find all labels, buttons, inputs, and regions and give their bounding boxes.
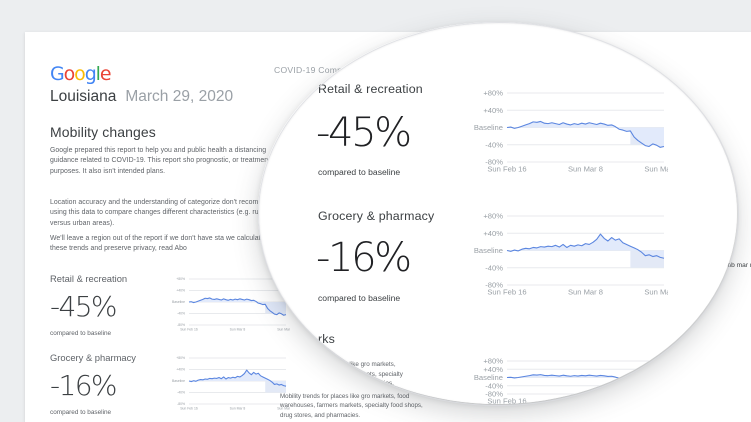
svg-text:Sun Feb 16: Sun Feb 16: [487, 397, 526, 404]
svg-text:-40%: -40%: [485, 140, 503, 149]
metric-category-label: Grocery & pharmacy: [50, 352, 170, 363]
svg-text:Sun Mar 29: Sun Mar 29: [644, 165, 668, 174]
svg-text:+80%: +80%: [483, 89, 503, 98]
google-logo: Google: [50, 63, 110, 85]
svg-text:Sun Mar 8: Sun Mar 8: [230, 327, 246, 331]
chart-grocery-pharmacy-magnified: +80%+40%Baseline-40%-80%Sun Feb 16Sun Ma…: [463, 207, 668, 303]
svg-text:-40%: -40%: [177, 312, 185, 316]
svg-text:+40%: +40%: [483, 229, 503, 238]
logo-letter-g2: g: [85, 63, 96, 85]
svg-text:-40%: -40%: [485, 263, 503, 272]
svg-text:+80%: +80%: [176, 356, 185, 360]
svg-text:Sun Mar 29: Sun Mar 29: [644, 288, 668, 297]
intro-paragraph-3: We'll leave a region out of the report i…: [50, 234, 283, 255]
svg-text:Sun Mar 8: Sun Mar 8: [568, 288, 603, 297]
lens-subtitle-retail: compared to baseline: [318, 167, 400, 177]
logo-letter-g: G: [50, 63, 64, 85]
svg-text:Baseline: Baseline: [474, 246, 503, 255]
metric-category-label: Retail & recreation: [50, 273, 170, 284]
svg-text:+40%: +40%: [176, 289, 185, 293]
logo-letter-o2: o: [74, 63, 85, 85]
svg-text:Sun Mar 29: Sun Mar 29: [644, 397, 668, 404]
svg-text:Sun Feb 16: Sun Feb 16: [487, 288, 526, 297]
magnifier-lens[interactable]: Retail & recreation -45% compared to bas…: [258, 22, 737, 404]
intro-paragraph-1: Google prepared this report to help you …: [50, 146, 283, 177]
svg-text:Baseline: Baseline: [172, 379, 185, 383]
lens-category-parks: rks: [318, 332, 335, 346]
svg-text:Sun Mar 8: Sun Mar 8: [568, 397, 603, 404]
lens-paragraph: Mobility trends for places like gro mark…: [278, 360, 408, 389]
chart-retail-recreation-magnified: +80%+40%Baseline-40%-80%Sun Feb 16Sun Ma…: [463, 84, 668, 180]
lens-value-retail: -45%: [316, 110, 410, 156]
metric-retail-recreation: Retail & recreation -45% compared to bas…: [50, 273, 170, 337]
svg-text:Baseline: Baseline: [474, 123, 503, 132]
metric-subtitle: compared to baseline: [50, 409, 170, 416]
svg-text:Sun Mar 8: Sun Mar 8: [568, 165, 603, 174]
region-date-line: LouisianaMarch 29, 2020: [50, 88, 233, 106]
magnifier-content: Retail & recreation -45% compared to bas…: [258, 22, 737, 404]
region-name: Louisiana: [50, 88, 116, 105]
screenshot-root: se trends and preserve p Google COVID-19…: [0, 0, 751, 422]
svg-text:+80%: +80%: [483, 212, 503, 221]
svg-text:Baseline: Baseline: [172, 300, 185, 304]
svg-text:Sun Feb 16: Sun Feb 16: [180, 327, 198, 331]
lens-value-grocery: -16%: [316, 235, 410, 281]
metric-value: -45%: [50, 292, 170, 321]
logo-letter-o1: o: [64, 63, 75, 85]
report-date: March 29, 2020: [125, 88, 233, 105]
intro-paragraph-2: Location accuracy and the understanding …: [50, 198, 283, 229]
svg-text:Sun Feb 16: Sun Feb 16: [487, 165, 526, 174]
metric-grocery-pharmacy: Grocery & pharmacy -16% compared to base…: [50, 352, 170, 416]
metric-subtitle: compared to baseline: [50, 330, 170, 337]
logo-letter-e: e: [100, 63, 111, 85]
lens-category-retail: Retail & recreation: [318, 82, 423, 96]
svg-text:+40%: +40%: [483, 106, 503, 115]
lens-category-grocery: Grocery & pharmacy: [318, 209, 434, 223]
chart-parks-magnified: +80%+40%Baseline-40%-80%Sun Feb 16Sun Ma…: [463, 352, 668, 404]
svg-text:Sun Mar 8: Sun Mar 8: [230, 406, 246, 410]
page-title: Mobility changes: [50, 124, 156, 140]
lens-subtitle-grocery: compared to baseline: [318, 293, 400, 303]
svg-text:+40%: +40%: [176, 368, 185, 372]
metric-value: -16%: [50, 371, 170, 400]
svg-text:Sun Feb 16: Sun Feb 16: [180, 406, 198, 410]
svg-text:+80%: +80%: [176, 277, 185, 281]
svg-text:-40%: -40%: [177, 391, 185, 395]
